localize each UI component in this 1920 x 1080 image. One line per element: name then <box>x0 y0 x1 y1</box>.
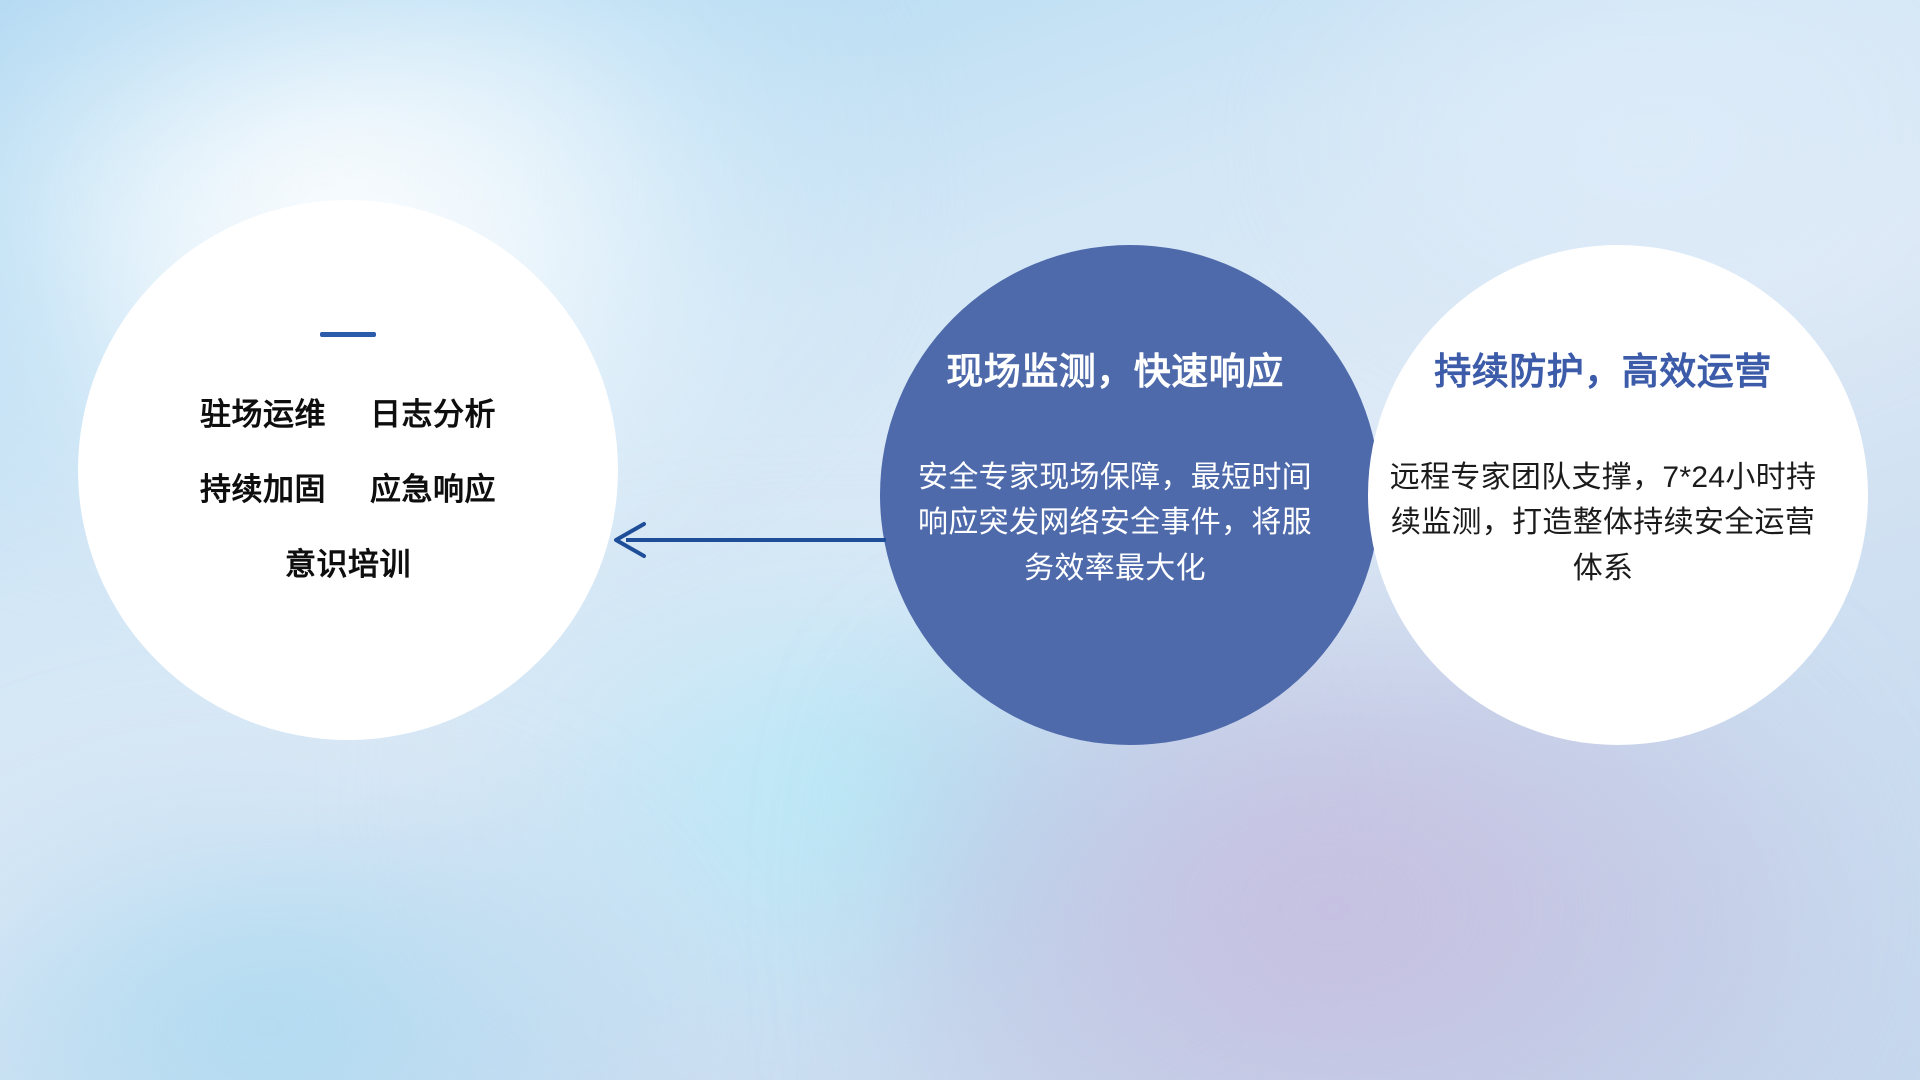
tag-continuous-hardening[interactable]: 持续加固 <box>200 474 326 505</box>
service-capabilities-circle[interactable]: 驻场运维 日志分析 持续加固 应急响应 意识培训 <box>78 200 618 740</box>
continuous-protection-body: 远程专家团队支撑，7*24小时持续监测，打造整体持续安全运营体系 <box>1388 455 1818 592</box>
continuous-protection-heading: 持续防护，高效运营 <box>1388 352 1818 393</box>
onsite-monitoring-heading: 现场监测，快速响应 <box>905 352 1325 393</box>
tag-awareness-training[interactable]: 意识培训 <box>285 549 411 580</box>
onsite-monitoring-text: 现场监测，快速响应 安全专家现场保障，最短时间响应突发网络安全事件，将服务效率最… <box>905 352 1325 591</box>
tag-row-1: 驻场运维 日志分析 <box>200 399 496 430</box>
tag-row-3: 意识培训 <box>285 549 411 580</box>
continuous-protection-text: 持续防护，高效运营 远程专家团队支撑，7*24小时持续监测，打造整体持续安全运营… <box>1388 352 1818 591</box>
tag-emergency-response[interactable]: 应急响应 <box>370 474 496 505</box>
slide-canvas: 驻场运维 日志分析 持续加固 应急响应 意识培训 现场监测，快速响应 安全专家现… <box>0 0 1920 1080</box>
onsite-monitoring-body: 安全专家现场保障，最短时间响应突发网络安全事件，将服务效率最大化 <box>905 455 1325 592</box>
tag-row-2: 持续加固 应急响应 <box>200 474 496 505</box>
tag-log-analysis[interactable]: 日志分析 <box>370 399 496 430</box>
divider-rule <box>320 332 376 337</box>
tag-onsite-ops[interactable]: 驻场运维 <box>200 399 326 430</box>
flow-arrow <box>596 512 886 568</box>
left-arrow-icon <box>596 512 886 568</box>
background-glow-bottom-left <box>0 756 691 1080</box>
